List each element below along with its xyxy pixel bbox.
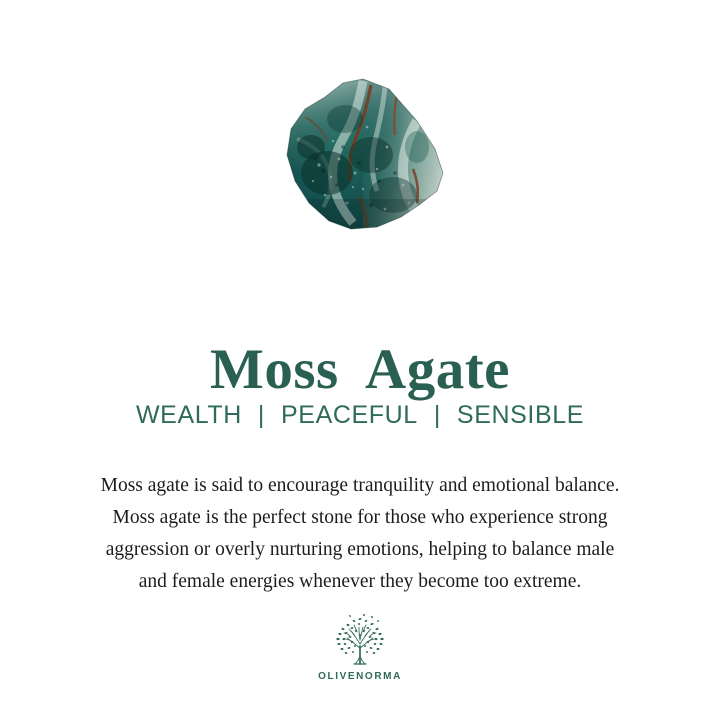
- moss-agate-stone: [267, 77, 453, 239]
- description-line: Moss agate is said to encourage tranquil…: [36, 470, 684, 502]
- stone-body: [267, 77, 453, 239]
- description-line: aggression or overly nurturing emotions,…: [36, 534, 684, 566]
- keyword-wealth: WEALTH: [136, 401, 242, 430]
- product-card: Moss Agate WEALTH | PEACEFUL | SENSIBLE …: [0, 0, 720, 720]
- keyword-list: WEALTH | PEACEFUL | SENSIBLE: [0, 401, 720, 430]
- keyword-separator: |: [256, 401, 267, 430]
- brand-wordmark: OLIVENORMA: [318, 671, 402, 682]
- page-title: Moss Agate: [0, 340, 720, 400]
- brand-logo: OLIVENORMA: [0, 612, 720, 682]
- stone-image-container: [0, 78, 720, 238]
- tree-icon: [328, 612, 392, 670]
- description-line: and female energies whenever they become…: [36, 566, 684, 598]
- keyword-separator: |: [432, 401, 443, 430]
- description-paragraph: Moss agate is said to encourage tranquil…: [36, 470, 684, 598]
- keyword-peaceful: PEACEFUL: [281, 401, 418, 430]
- description-line: Moss agate is the perfect stone for thos…: [36, 502, 684, 534]
- keyword-sensible: SENSIBLE: [457, 401, 584, 430]
